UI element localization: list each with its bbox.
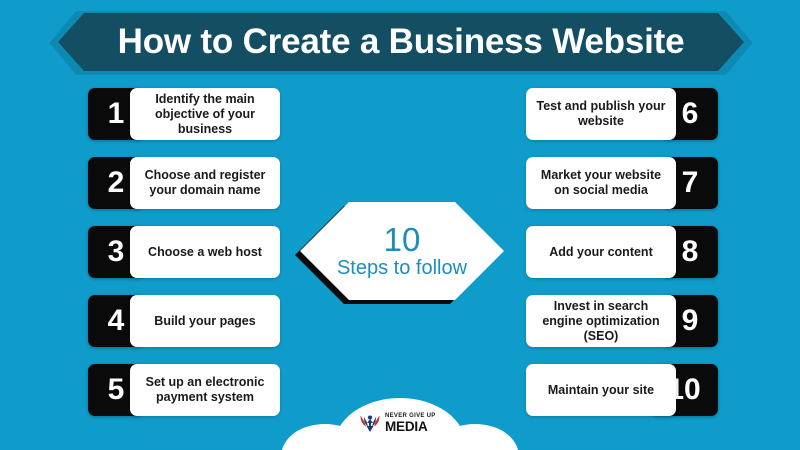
title-banner: How to Create a Business Website (58, 13, 744, 71)
step-label-7: Market your website on social media (526, 157, 676, 209)
center-badge-caption: Steps to follow (337, 256, 467, 280)
step-item-7[interactable]: 7 Market your website on social media (526, 157, 718, 209)
step-label-10: Maintain your site (526, 364, 676, 416)
step-label-2: Choose and register your domain name (130, 157, 280, 209)
step-label-1: Identify the main objective of your busi… (130, 88, 280, 140)
center-badge-content: 10 Steps to follow (300, 202, 504, 300)
step-label-4: Build your pages (130, 295, 280, 347)
step-label-6: Test and publish your website (526, 88, 676, 140)
step-label-9: Invest in search engine optimization (SE… (526, 295, 676, 347)
step-item-8[interactable]: 8 Add your content (526, 226, 718, 278)
logo-name: MEDIA (385, 420, 436, 434)
footer-logo: NEVER GIVE UP MEDIA (358, 409, 450, 437)
step-item-6[interactable]: 6 Test and publish your website (526, 88, 718, 140)
step-label-8: Add your content (526, 226, 676, 278)
step-item-10[interactable]: 10 Maintain your site (526, 364, 718, 416)
logo-wordmark: NEVER GIVE UP MEDIA (385, 413, 436, 434)
step-item-9[interactable]: 9 Invest in search engine optimization (… (526, 295, 718, 347)
page-title: How to Create a Business Website (58, 13, 744, 71)
blob-lobe-base (282, 438, 518, 450)
step-label-3: Choose a web host (130, 226, 280, 278)
logo-tagline: NEVER GIVE UP (385, 413, 436, 419)
center-badge: 10 Steps to follow (295, 202, 507, 304)
infographic-canvas: How to Create a Business Website 1 Ident… (0, 0, 800, 450)
step-label-5: Set up an electronic payment system (130, 364, 280, 416)
center-badge-number: 10 (384, 223, 421, 257)
phoenix-eagle-icon (358, 411, 382, 435)
